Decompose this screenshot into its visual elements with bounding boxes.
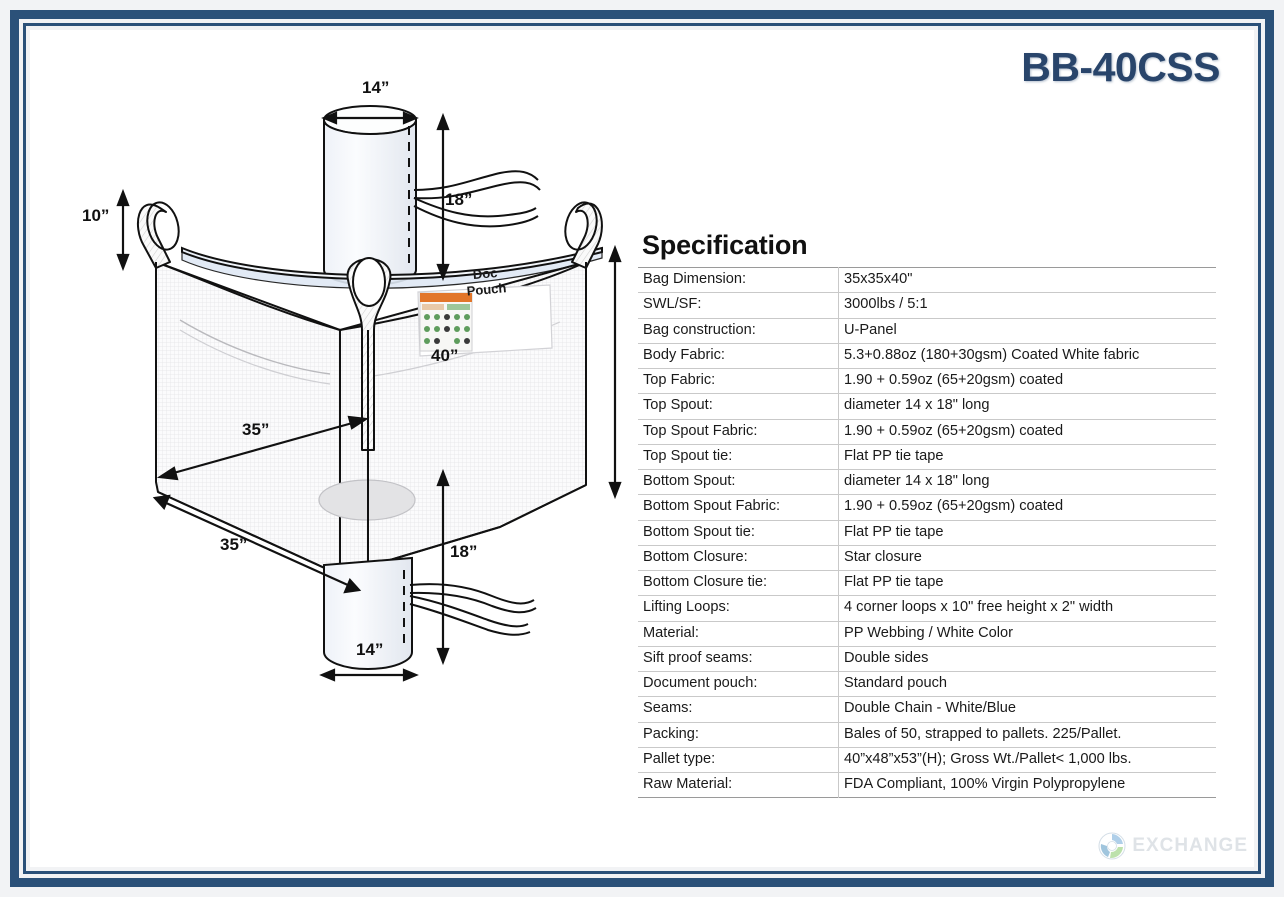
spec-row: Sift proof seams:Double sides	[638, 646, 1216, 671]
dim-label-bag-width: 35”	[220, 535, 247, 555]
specification-heading: Specification	[642, 230, 1216, 261]
spec-row-value: 40”x48”x53”(H); Gross Wt./Pallet< 1,000 …	[839, 747, 1217, 772]
spec-row: Lifting Loops:4 corner loops x 10" free …	[638, 596, 1216, 621]
spec-row-value: Double sides	[839, 646, 1217, 671]
dim-arrow-bottom-spout-diameter	[322, 670, 416, 680]
spec-row-value: 4 corner loops x 10" free height x 2" wi…	[839, 596, 1217, 621]
spec-row-label: Top Spout:	[638, 394, 839, 419]
watermark: EXCHANGE	[1097, 831, 1248, 861]
spec-row-value: 3000lbs / 5:1	[839, 293, 1217, 318]
spec-row: Body Fabric:5.3+0.88oz (180+30gsm) Coate…	[638, 343, 1216, 368]
spec-row-label: Body Fabric:	[638, 343, 839, 368]
spec-row-label: Material:	[638, 621, 839, 646]
spec-row-value: Flat PP tie tape	[839, 520, 1217, 545]
top-spout-tie-tapes	[414, 171, 540, 226]
spec-row: Top Spout tie:Flat PP tie tape	[638, 444, 1216, 469]
spec-row-label: Bottom Closure:	[638, 545, 839, 570]
sheet-canvas: BB-40CSS	[30, 30, 1254, 867]
spec-row: Top Spout Fabric:1.90 + 0.59oz (65+20gsm…	[638, 419, 1216, 444]
model-title: BB-40CSS	[1021, 44, 1220, 91]
spec-row: Bottom Spout:diameter 14 x 18" long	[638, 470, 1216, 495]
spec-row-value: Flat PP tie tape	[839, 444, 1217, 469]
spec-row: Raw Material:FDA Compliant, 100% Virgin …	[638, 773, 1216, 798]
spec-row-value: diameter 14 x 18" long	[839, 470, 1217, 495]
dim-arrow-loop-height	[118, 192, 128, 268]
dim-label-bag-height: 40”	[431, 346, 458, 366]
spec-row: Document pouch:Standard pouch	[638, 672, 1216, 697]
spec-row-value: U-Panel	[839, 318, 1217, 343]
spec-row-value: Standard pouch	[839, 672, 1217, 697]
spec-row: Top Spout:diameter 14 x 18" long	[638, 394, 1216, 419]
recycle-logo-icon	[1097, 831, 1127, 861]
spec-row: Top Fabric:1.90 + 0.59oz (65+20gsm) coat…	[638, 369, 1216, 394]
spec-row: Bottom Closure tie:Flat PP tie tape	[638, 571, 1216, 596]
spec-row-value: Flat PP tie tape	[839, 571, 1217, 596]
dim-label-bottom-spout-diameter: 14”	[356, 640, 383, 660]
spec-row-label: Bottom Closure tie:	[638, 571, 839, 596]
spec-row-label: SWL/SF:	[638, 293, 839, 318]
spec-row: Seams:Double Chain - White/Blue	[638, 697, 1216, 722]
watermark-text: EXCHANGE	[1132, 835, 1248, 857]
spec-row-label: Seams:	[638, 697, 839, 722]
spec-row-label: Bottom Spout tie:	[638, 520, 839, 545]
spec-row-value: Star closure	[839, 545, 1217, 570]
spec-row-value: diameter 14 x 18" long	[839, 394, 1217, 419]
spec-row: Bottom Closure:Star closure	[638, 545, 1216, 570]
dim-label-top-spout-diameter: 14”	[362, 78, 389, 98]
dim-label-bag-depth: 35”	[242, 420, 269, 440]
spec-row-value: 5.3+0.88oz (180+30gsm) Coated White fabr…	[839, 343, 1217, 368]
spec-row-label: Lifting Loops:	[638, 596, 839, 621]
spec-row-label: Bag construction:	[638, 318, 839, 343]
spec-row-label: Sift proof seams:	[638, 646, 839, 671]
spec-row: SWL/SF:3000lbs / 5:1	[638, 293, 1216, 318]
spec-row-value: 1.90 + 0.59oz (65+20gsm) coated	[839, 495, 1217, 520]
spec-sheet-page: BB-40CSS	[0, 0, 1284, 897]
doc-pouch-caption-line2: Pouch	[466, 281, 507, 301]
spec-row: Bag Dimension:35x35x40"	[638, 268, 1216, 293]
spec-row-label: Top Spout tie:	[638, 444, 839, 469]
spec-row: Material:PP Webbing / White Color	[638, 621, 1216, 646]
dim-label-top-spout-length: 18”	[445, 190, 472, 210]
dim-label-loop-free-height: 10”	[82, 206, 109, 226]
spec-row-value: Double Chain - White/Blue	[839, 697, 1217, 722]
specification-table: Bag Dimension:35x35x40"SWL/SF:3000lbs / …	[638, 267, 1216, 798]
spec-row: Bag construction:U-Panel	[638, 318, 1216, 343]
dim-label-bottom-spout-length: 18”	[450, 542, 477, 562]
spec-row-value: PP Webbing / White Color	[839, 621, 1217, 646]
spec-row: Bottom Spout Fabric:1.90 + 0.59oz (65+20…	[638, 495, 1216, 520]
spec-row-label: Bottom Spout:	[638, 470, 839, 495]
spec-row-value: 35x35x40"	[839, 268, 1217, 293]
spec-row-value: 1.90 + 0.59oz (65+20gsm) coated	[839, 369, 1217, 394]
spec-row: Bottom Spout tie:Flat PP tie tape	[638, 520, 1216, 545]
bottom-spout-tie-tapes	[410, 584, 536, 635]
specification-table-body: Bag Dimension:35x35x40"SWL/SF:3000lbs / …	[638, 268, 1216, 798]
doc-pouch-caption: Doc Pouch	[465, 264, 507, 300]
bulk-bag-diagram: 14” 18” 10” 40” 35” 35” 18” 14” Doc Pouc…	[30, 30, 650, 720]
spec-row-value: FDA Compliant, 100% Virgin Polypropylene	[839, 773, 1217, 798]
spec-row-label: Bottom Spout Fabric:	[638, 495, 839, 520]
spec-row: Pallet type:40”x48”x53”(H); Gross Wt./Pa…	[638, 747, 1216, 772]
spec-row-label: Bag Dimension:	[638, 268, 839, 293]
spec-row-label: Raw Material:	[638, 773, 839, 798]
pouch-paperwork	[420, 293, 472, 351]
dim-arrow-bag-height	[610, 248, 620, 496]
spec-row-label: Pallet type:	[638, 747, 839, 772]
spec-row: Packing:Bales of 50, strapped to pallets…	[638, 722, 1216, 747]
bulk-bag-drawing	[30, 30, 650, 720]
spec-row-label: Document pouch:	[638, 672, 839, 697]
spec-row-label: Top Spout Fabric:	[638, 419, 839, 444]
spec-row-value: Bales of 50, strapped to pallets. 225/Pa…	[839, 722, 1217, 747]
spec-row-label: Packing:	[638, 722, 839, 747]
specification-section: Specification Bag Dimension:35x35x40"SWL…	[638, 230, 1216, 798]
spec-row-label: Top Fabric:	[638, 369, 839, 394]
spec-row-value: 1.90 + 0.59oz (65+20gsm) coated	[839, 419, 1217, 444]
